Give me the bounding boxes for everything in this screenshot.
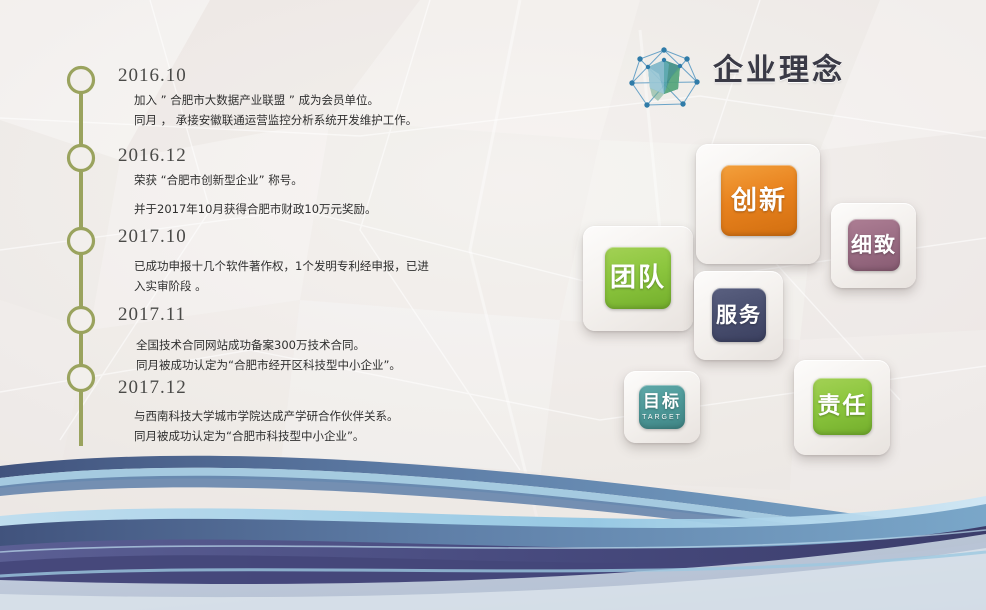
concept-tile: 目标 TARGET [639,385,685,429]
concept-tile: 创新 [721,165,797,236]
concept-label: 创新 [731,188,787,214]
decorative-wave-ribbons [0,430,986,610]
concept-tile: 细致 [848,219,900,271]
concept-tile: 责任 [813,378,872,435]
concept-card-meticulous[interactable]: 细致 [831,203,916,288]
concept-tile: 团队 [605,247,671,309]
concept-card-service[interactable]: 服务 [694,271,783,360]
concept-tile: 服务 [712,288,766,342]
concept-label: 服务 [716,305,762,326]
slide-canvas: 2016.10 加入 ” 合肥市大数据产业联盟 ” 成为会员单位。 同月 ， 承… [0,0,986,610]
concept-card-team[interactable]: 团队 [583,226,693,331]
concept-label: 细致 [851,235,897,256]
concept-label: 团队 [610,265,666,291]
concept-label: 责任 [818,395,868,418]
concept-card-innovation[interactable]: 创新 [696,144,820,264]
concept-sublabel: TARGET [642,414,682,421]
concept-label: 目标 [643,394,681,411]
